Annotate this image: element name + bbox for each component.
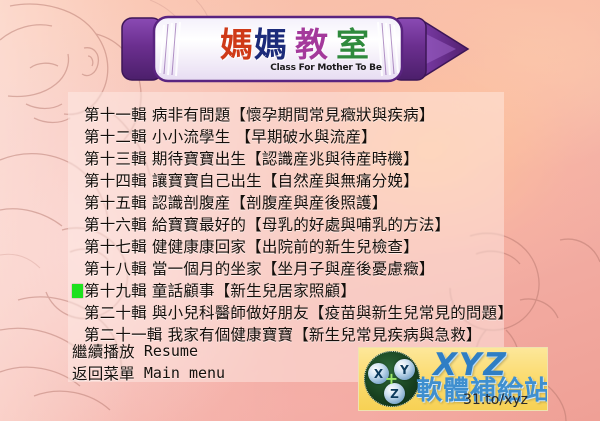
chapter-item[interactable]: 第十四輯 讓寶寶自己出生【自然産與無痛分娩】 (72, 170, 512, 192)
resume-button[interactable]: 繼續播放Resume (72, 340, 225, 362)
chapter-item-label: 第十五輯 認識剖腹産【剖腹産與産後照護】 (84, 193, 387, 213)
chapter-item-label: 第十二輯 小小流學生 【早期破水與流産】 (84, 127, 377, 147)
chapter-item[interactable]: 第十五輯 認識剖腹産【剖腹産與産後照護】 (72, 192, 512, 214)
chapter-item-label: 第二十輯 與小兒科醫師做好朋友【疫苗與新生兒常見的問題】 (84, 303, 513, 323)
chapter-item[interactable]: 第十六輯 給寶寶最好的【母乳的好處與哺乳的方法】 (72, 214, 512, 236)
chapter-item[interactable]: 第十七輯 健健康康回家【出院前的新生兒檢查】 (72, 236, 512, 258)
chapter-list: 第十一輯 病非有問題【懷孕期間常見癥狀與疾病】第十二輯 小小流學生 【早期破水與… (72, 104, 512, 346)
selection-cursor-slot (72, 108, 83, 122)
xyz-watermark-logo: X Y Z + XYZ 軟體補給站 31.to/xyz (358, 347, 548, 411)
selection-cursor-slot (72, 218, 83, 232)
selection-cursor-slot (72, 196, 83, 210)
action-label-en: Main menu (144, 364, 225, 382)
chapter-item-label: 第十六輯 給寶寶最好的【母乳的好處與哺乳的方法】 (84, 215, 450, 235)
main-menu-button[interactable]: 返回菜單Main menu (72, 362, 225, 384)
chapter-item-label: 第十四輯 讓寶寶自己出生【自然産與無痛分娩】 (84, 171, 419, 191)
chapter-item[interactable]: 第十三輯 期待寶寶出生【認識産兆與待産時機】 (72, 148, 512, 170)
action-label-en: Resume (144, 342, 198, 360)
xyz-orb-icon: X Y Z + (364, 351, 420, 407)
action-label-cjk: 繼續播放 (72, 340, 135, 362)
chapter-item[interactable]: 第十二輯 小小流學生 【早期破水與流産】 (72, 126, 512, 148)
title-banner: 媽媽教室 Class For Mother To Be (120, 13, 470, 85)
chapter-item-label: 第十七輯 健健康康回家【出院前的新生兒檢查】 (84, 237, 419, 257)
chapter-item-label: 第十一輯 病非有問題【懷孕期間常見癥狀與疾病】 (84, 105, 435, 125)
selection-cursor-slot (72, 262, 83, 276)
menu-actions: 繼續播放Resume返回菜單Main menu (72, 340, 225, 384)
selection-cursor-slot (72, 174, 83, 188)
chapter-item-label: 第十九輯 童話顧事【新生兒居家照顧】 (84, 281, 356, 301)
chapter-item[interactable]: 第十九輯 童話顧事【新生兒居家照顧】 (72, 280, 512, 302)
orb-plus-icon: + (384, 371, 399, 386)
dvd-menu-screen: 媽媽教室 Class For Mother To Be 第十一輯 病非有問題【懷… (0, 0, 600, 421)
selection-cursor-slot (72, 306, 83, 320)
chapter-item-label: 第十八輯 當一個月的坐家【坐月子與産後憂慮癥】 (84, 259, 435, 279)
selection-cursor-slot (72, 130, 83, 144)
selection-cursor-slot (72, 240, 83, 254)
selection-cursor-icon (72, 284, 83, 298)
selection-cursor-slot (72, 152, 83, 166)
chapter-item[interactable]: 第十一輯 病非有問題【懷孕期間常見癥狀與疾病】 (72, 104, 512, 126)
action-label-cjk: 返回菜單 (72, 362, 135, 384)
chapter-item-label: 第十三輯 期待寶寶出生【認識産兆與待産時機】 (84, 149, 419, 169)
logo-url-text: 31.to/xyz (463, 392, 528, 408)
chapter-item[interactable]: 第十八輯 當一個月的坐家【坐月子與産後憂慮癥】 (72, 258, 512, 280)
chapter-item[interactable]: 第二十輯 與小兒科醫師做好朋友【疫苗與新生兒常見的問題】 (72, 302, 512, 324)
